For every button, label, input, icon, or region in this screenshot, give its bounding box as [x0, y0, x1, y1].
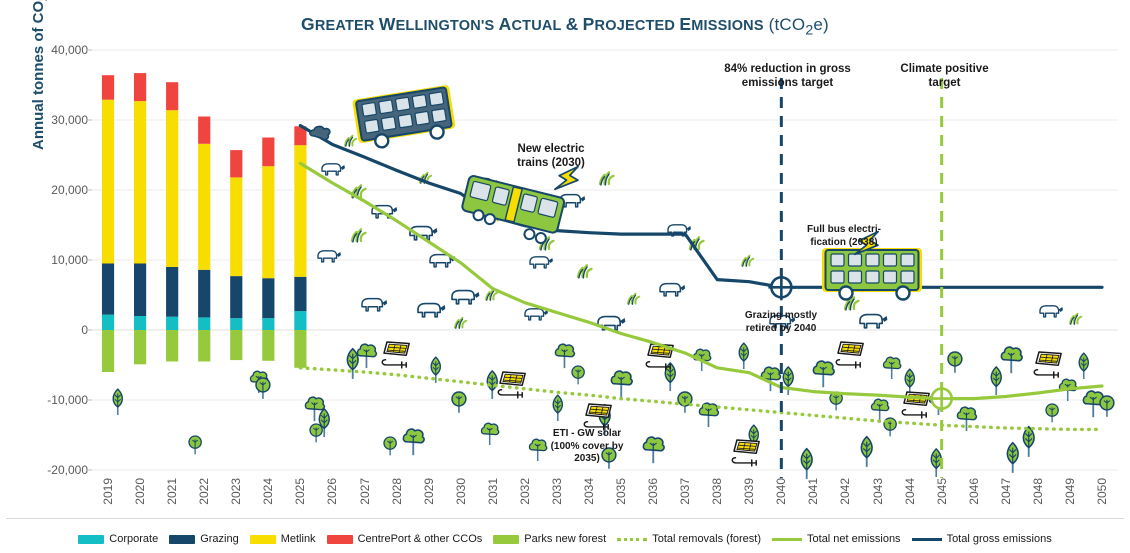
legend-divider: [6, 518, 1124, 519]
legend-swatch-icon: [250, 535, 276, 544]
tree-icon: [572, 366, 584, 384]
x-tick-label-2031: 2031: [486, 478, 500, 505]
annotation-line: 2035): [532, 453, 642, 466]
x-tick-label-2048: 2048: [1031, 478, 1045, 505]
legend-label: Corporate: [109, 533, 158, 545]
annotation-line: Climate positive: [872, 62, 1017, 76]
bar-segment: [230, 150, 242, 177]
electric-train-icon: [458, 175, 565, 246]
tree-icon: [931, 449, 941, 477]
x-tick-label-2037: 2037: [678, 478, 692, 505]
x-tick-label-2038: 2038: [710, 478, 724, 505]
legend-item[interactable]: Corporate: [78, 533, 158, 545]
legend-label: Total gross emissions: [947, 533, 1052, 545]
annotation-line: retired by 2040: [726, 323, 836, 336]
legend-item[interactable]: Total gross emissions: [912, 533, 1052, 545]
grass-icon: [352, 229, 366, 242]
annotation-line: ETI - GW solar: [532, 428, 642, 441]
legend-label: Metlink: [281, 533, 316, 545]
legend-item[interactable]: Grazing: [169, 533, 239, 545]
x-tick-label-2039: 2039: [742, 478, 756, 505]
bar-segment: [230, 177, 242, 276]
bar-segment: [166, 267, 178, 317]
tree-icon: [643, 437, 664, 463]
annotation-target-84: 84% reduction in grossemissions target: [700, 62, 875, 91]
bar-segment: [262, 330, 274, 361]
legend-swatch-icon: [772, 538, 802, 541]
bar-segment: [166, 317, 178, 330]
tree-icon: [783, 367, 793, 395]
x-tick-label-2027: 2027: [358, 478, 372, 505]
solar-panel-icon: [836, 342, 863, 368]
tree-icon: [403, 429, 424, 455]
tree-icon: [813, 361, 834, 387]
legend-swatch-icon: [912, 538, 942, 541]
tree-icon: [452, 392, 466, 413]
tree-icon: [555, 344, 574, 368]
emissions-chart: GREATER WELLINGTON'S ACTUAL & PROJECTED …: [0, 0, 1130, 553]
bar-segment: [166, 110, 178, 267]
bar-segment: [230, 330, 242, 360]
bar-segment: [134, 101, 146, 263]
bar-segment: [294, 311, 306, 330]
legend-label: Grazing: [200, 533, 239, 545]
stacked-bars: [102, 73, 307, 372]
grass-icon: [742, 256, 753, 267]
tree-icon: [1100, 396, 1114, 417]
annotation-line: fication (2038): [790, 237, 898, 250]
tree-icon: [357, 344, 376, 368]
tree-icon: [883, 357, 900, 379]
tree-icon: [189, 436, 201, 454]
legend-swatch-icon: [617, 538, 647, 541]
legend-swatch-icon: [169, 535, 195, 544]
annotation-climate-positive: Climate positivetarget: [872, 62, 1017, 91]
x-tick-label-2050: 2050: [1095, 478, 1109, 505]
annotation-eti-gw-solar: ETI - GW solar(100% cover by2035): [532, 428, 642, 466]
line-total-gross-emissions: [300, 126, 1102, 288]
x-tick-label-2019: 2019: [101, 478, 115, 505]
bar-segment: [294, 330, 306, 368]
tree-icon: [991, 367, 1001, 395]
bar-segment: [198, 270, 210, 318]
x-tick-label-2022: 2022: [197, 478, 211, 505]
annotation-line: Grazing mostly: [726, 310, 836, 323]
annotation-full-bus-electrification: Full bus electri-fication (2038): [790, 224, 898, 249]
tree-icon: [861, 437, 872, 467]
annotation-line: emissions target: [700, 76, 875, 90]
annotation-line: trains (2030): [495, 156, 607, 170]
tree-icon: [113, 389, 122, 415]
legend-item[interactable]: Parks new forest: [493, 533, 606, 545]
tree-icon: [948, 352, 962, 373]
bar-segment: [294, 277, 306, 311]
legend-item[interactable]: CentrePort & other CCOs: [327, 533, 483, 545]
x-tick-label-2023: 2023: [229, 478, 243, 505]
bar-segment: [102, 75, 114, 100]
tree-icon: [1001, 347, 1022, 373]
legend-item[interactable]: Total net emissions: [772, 533, 901, 545]
x-tick-label-2035: 2035: [614, 478, 628, 505]
tree-icon: [699, 403, 718, 427]
grass-icon: [578, 265, 592, 278]
bar-segment: [198, 117, 210, 144]
x-tick-label-2036: 2036: [646, 478, 660, 505]
bar-segment: [262, 138, 274, 167]
x-tick-label-2047: 2047: [999, 478, 1013, 505]
annotation-line: New electric: [495, 142, 607, 156]
legend-label: Total removals (forest): [652, 533, 761, 545]
bar-segment: [262, 318, 274, 330]
tree-icon: [256, 378, 270, 399]
annotation-grazing-retired: Grazing mostlyretired by 2040: [726, 310, 836, 335]
x-tick-label-2024: 2024: [261, 478, 275, 505]
tree-icon: [347, 349, 358, 379]
cow-icon: [362, 299, 387, 311]
grass-icon: [600, 172, 614, 185]
cow-icon: [1040, 306, 1063, 317]
x-tick-label-2020: 2020: [133, 478, 147, 505]
bar-segment: [198, 330, 210, 362]
legend-label: CentrePort & other CCOs: [358, 533, 483, 545]
bar-segment: [230, 318, 242, 330]
tree-icon: [611, 371, 632, 397]
bar-segment: [102, 330, 114, 372]
tree-icon: [957, 407, 976, 431]
solar-panel-icon: [584, 404, 611, 430]
x-tick-label-2028: 2028: [390, 478, 404, 505]
tree-icon: [481, 423, 498, 445]
bar-segment: [134, 73, 146, 101]
bar-segment: [102, 315, 114, 330]
x-tick-label-2045: 2045: [935, 478, 949, 505]
legend-swatch-icon: [78, 535, 104, 544]
x-tick-label-2030: 2030: [454, 478, 468, 505]
smoke-icon: [310, 126, 330, 139]
cow-icon: [860, 315, 887, 328]
cow-icon: [530, 257, 553, 268]
tree-icon: [871, 399, 888, 421]
annotation-line: (100% cover by: [532, 441, 642, 454]
grass-icon: [1070, 314, 1081, 325]
tree-icon: [1023, 427, 1034, 457]
solar-panel-icon: [1034, 352, 1061, 378]
tree-icon: [1007, 443, 1018, 473]
x-tick-label-2021: 2021: [165, 478, 179, 505]
legend-swatch-icon: [493, 535, 519, 544]
bar-segment: [198, 144, 210, 270]
bar-segment: [102, 264, 114, 315]
legend-item[interactable]: Metlink: [250, 533, 316, 545]
bar-segment: [198, 317, 210, 330]
electric-bus-icon: [822, 248, 922, 300]
tree-icon: [310, 424, 322, 442]
legend-label: Parks new forest: [524, 533, 606, 545]
x-tick-label-2032: 2032: [518, 478, 532, 505]
bar-segment: [262, 278, 274, 318]
bar-segment: [102, 100, 114, 264]
grass-icon: [628, 294, 639, 305]
legend-swatch-icon: [327, 535, 353, 544]
x-tick-label-2029: 2029: [422, 478, 436, 505]
x-tick-label-2033: 2033: [550, 478, 564, 505]
tree-icon: [678, 392, 692, 413]
legend-item[interactable]: Total removals (forest): [617, 533, 761, 545]
x-tick-label-2042: 2042: [838, 478, 852, 505]
tree-icon: [739, 343, 748, 369]
chart-legend: CorporateGrazingMetlinkCentrePort & othe…: [0, 533, 1130, 545]
cow-icon: [452, 291, 479, 304]
x-tick-label-2043: 2043: [871, 478, 885, 505]
cow-icon: [418, 304, 445, 317]
x-tick-label-2040: 2040: [774, 478, 788, 505]
tree-icon: [553, 395, 562, 421]
tree-icon: [905, 369, 914, 395]
solar-panel-icon: [732, 440, 759, 466]
annotation-new-electric-trains: New electrictrains (2030): [495, 142, 607, 171]
double-decker-bus-icon: [352, 85, 457, 151]
tree-icon: [801, 449, 812, 479]
grass-icon: [345, 136, 356, 147]
cow-icon: [322, 164, 345, 175]
bar-segment: [134, 316, 146, 330]
annotation-line: target: [872, 76, 1017, 90]
tree-icon: [1046, 404, 1058, 422]
x-tick-label-2041: 2041: [806, 478, 820, 505]
tree-icon: [384, 437, 396, 455]
bar-segment: [166, 82, 178, 110]
grass-icon: [455, 318, 466, 329]
tree-icon: [1079, 353, 1088, 379]
bar-segment: [230, 276, 242, 318]
x-tick-label-2034: 2034: [582, 478, 596, 505]
bar-segment: [134, 330, 146, 364]
trend-lines: [300, 126, 1102, 430]
x-tick-label-2026: 2026: [325, 478, 339, 505]
bar-segment: [166, 330, 178, 362]
annotation-line: 84% reduction in gross: [700, 62, 875, 76]
x-tick-label-2044: 2044: [903, 478, 917, 505]
solar-panel-icon: [382, 342, 409, 368]
bar-segment: [134, 264, 146, 317]
x-tick-label-2046: 2046: [967, 478, 981, 505]
legend-label: Total net emissions: [807, 533, 901, 545]
cow-icon: [660, 284, 685, 296]
annotation-line: Full bus electri-: [790, 224, 898, 237]
cow-icon: [525, 309, 548, 320]
x-tick-label-2025: 2025: [293, 478, 307, 505]
bar-segment: [262, 166, 274, 278]
x-tick-label-2049: 2049: [1063, 478, 1077, 505]
